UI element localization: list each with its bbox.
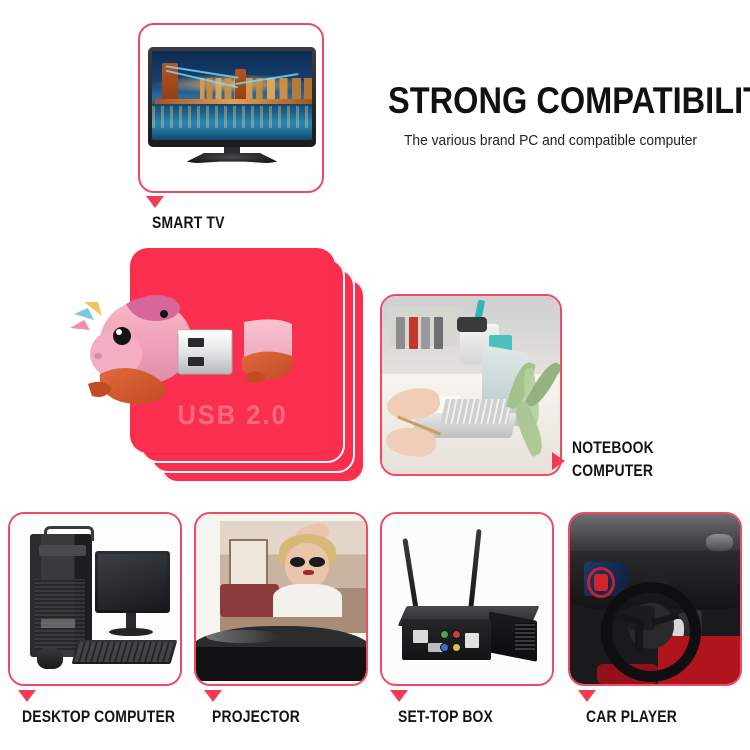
tv-screen	[152, 51, 312, 140]
device-card-notebook-computer[interactable]	[380, 294, 562, 476]
device-card-smart-tv[interactable]	[138, 23, 324, 193]
page-title: STRONG COMPATIBILITY	[388, 80, 750, 122]
pointer-triangle-desktop-computer	[18, 690, 36, 702]
car-player-image	[570, 514, 740, 684]
device-label-set-top-box: SET-TOP BOX	[398, 707, 493, 726]
promo-banner: STRONG COMPATIBILITY The various brand P…	[0, 0, 750, 750]
pointer-triangle-set-top-box	[390, 690, 408, 702]
set-top-box-image	[382, 514, 552, 684]
device-label-notebook-computer-line2: COMPUTER	[572, 461, 653, 480]
smart-tv-image	[140, 25, 322, 191]
tv-illustration	[148, 47, 316, 167]
pointer-triangle-smart-tv	[146, 196, 164, 208]
device-card-desktop-computer[interactable]	[8, 512, 182, 686]
device-label-car-player: CAR PLAYER	[586, 707, 677, 726]
pointer-triangle-car-player	[578, 690, 596, 702]
unicorn-usb-drive-icon	[64, 258, 304, 438]
notebook-computer-image	[382, 296, 560, 474]
device-card-set-top-box[interactable]	[380, 512, 554, 686]
device-label-smart-tv: SMART TV	[152, 213, 225, 232]
desktop-computer-image	[10, 514, 180, 684]
pointer-triangle-projector	[204, 690, 222, 702]
pointer-triangle-notebook-computer	[552, 452, 565, 470]
product-card-stack[interactable]: USB 2.0	[130, 248, 370, 488]
tv-foot	[182, 153, 282, 164]
device-label-notebook-computer-line1: NOTEBOOK	[572, 438, 654, 457]
projector-image	[196, 514, 366, 684]
device-label-projector: PROJECTOR	[212, 707, 300, 726]
tv-bezel	[148, 47, 316, 147]
device-card-projector[interactable]	[194, 512, 368, 686]
device-card-car-player[interactable]	[568, 512, 742, 686]
page-subtitle: The various brand PC and compatible comp…	[404, 132, 697, 149]
device-label-desktop-computer: DESKTOP COMPUTER	[22, 707, 175, 726]
